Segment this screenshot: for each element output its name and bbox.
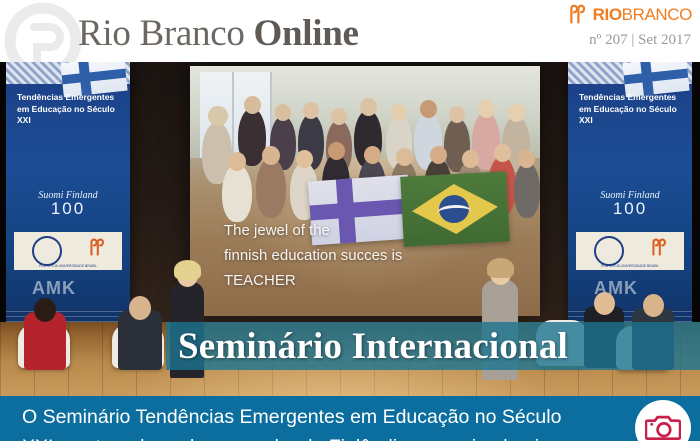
rollup-left-partners: PONTIFÍCIA UNIVERSIDADE BRASIL	[14, 232, 122, 270]
rollup-banner-left: Tendências Emergentes em Educação no Séc…	[6, 62, 130, 336]
university-seal-icon	[594, 236, 624, 266]
camera-icon	[645, 412, 681, 441]
university-seal-icon	[32, 236, 62, 266]
rollup-banner-right: Tendências Emergentes em Educação no Séc…	[568, 62, 692, 336]
summary-band: O Seminário Tendências Emergentes em Edu…	[0, 396, 700, 441]
seminar-title: Seminário Internacional	[178, 325, 568, 369]
summary-text: O Seminário Tendências Emergentes em Edu…	[22, 402, 582, 441]
photo-gallery-button[interactable]	[635, 400, 691, 441]
rio-branco-monogram-icon	[648, 238, 670, 257]
newsletter-page: Rio Branco Online RIOBRANCO nº 207 | Set…	[0, 0, 700, 441]
rio-branco-monogram-icon	[86, 238, 108, 257]
rollup-left-suomi: Suomi Finland 100	[6, 190, 130, 215]
rollup-left-title: Tendências Emergentes em Educação no Séc…	[17, 92, 123, 127]
rollup-right-title: Tendências Emergentes em Educação no Séc…	[579, 92, 685, 127]
rio-branco-monogram-icon	[567, 4, 588, 25]
brand-name-bold: Online	[254, 13, 359, 54]
page-title: Rio Branco Online	[78, 14, 359, 54]
rollup-right-suomi: Suomi Finland 100	[568, 190, 692, 215]
suomi-100: 100	[6, 203, 130, 215]
seminar-title-banner: Seminário Internacional	[166, 322, 700, 370]
suomi-100: 100	[568, 203, 692, 215]
rollup-right-partners: PONTIFÍCIA UNIVERSIDADE BRASIL	[576, 232, 684, 270]
rio-branco-logo[interactable]: RIOBRANCO	[567, 4, 692, 25]
issue-number: nº 207 | Set 2017	[589, 32, 691, 49]
rollup-left-partner-sub: PONTIFÍCIA UNIVERSIDADE BRASIL	[20, 264, 116, 268]
slide-photo: The jewel of the finnish education succe…	[190, 66, 540, 316]
page-header: Rio Branco Online RIOBRANCO nº 207 | Set…	[0, 0, 700, 62]
logo-word-branco: BRANCO	[622, 5, 692, 24]
projection-screen: The jewel of the finnish education succe…	[190, 66, 540, 316]
brand-name-regular: Rio Branco	[78, 13, 245, 54]
rollup-left-amk: AMK	[32, 278, 76, 299]
rollup-right-partner-sub: PONTIFÍCIA UNIVERSIDADE BRASIL	[582, 264, 678, 268]
logo-word-rio: RIO	[593, 5, 622, 24]
rio-branco-watermark-icon	[4, 2, 82, 62]
slide-caption-line1: The jewel of the	[224, 218, 534, 243]
